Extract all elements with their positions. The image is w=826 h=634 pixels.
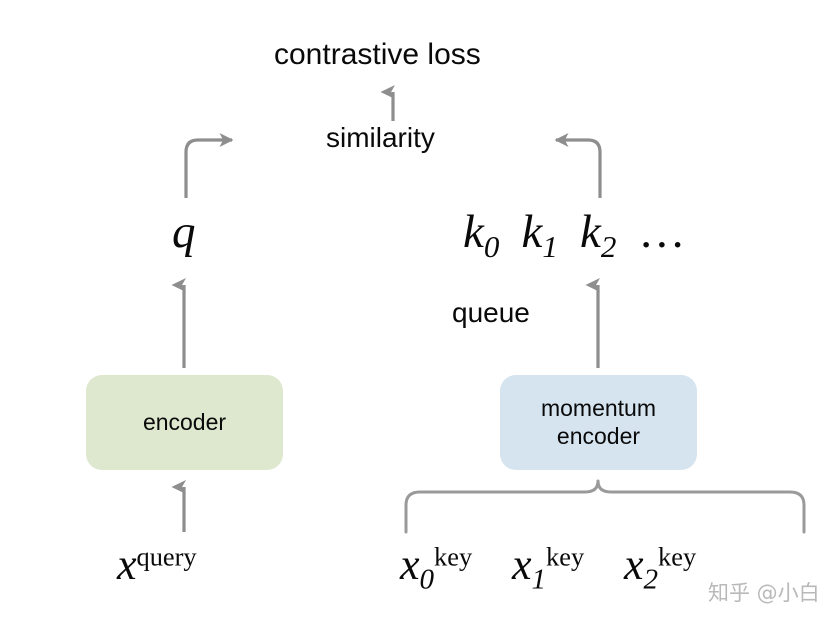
x-key-2-symbol: x2key — [624, 543, 696, 594]
x-query-superscript: query — [137, 541, 197, 571]
k2-subscript: 2 — [601, 229, 617, 264]
k2-base: k — [580, 206, 601, 258]
x-key-2-base: x — [624, 540, 644, 589]
x-key-0-superscript: key — [434, 541, 472, 571]
k1-base: k — [521, 206, 542, 258]
x-key-1-subscript: 1 — [532, 563, 547, 595]
x-key-2-superscript: key — [658, 541, 696, 571]
x-query-symbol: xquery — [117, 543, 197, 587]
x-key-0-subscript: 0 — [420, 563, 435, 595]
k-ellipsis: … — [638, 206, 688, 258]
k1-symbol: k1 — [521, 206, 557, 258]
arrow-k-to-similarity — [556, 140, 600, 198]
encoder-box-label: encoder — [143, 409, 226, 436]
x-key-0-base: x — [400, 540, 420, 589]
x-query-base: x — [117, 540, 137, 589]
momentum-encoder-box-label: momentum encoder — [541, 395, 656, 449]
arrow-q-to-similarity — [186, 140, 232, 198]
momentum-encoder-line1: momentum — [541, 395, 656, 421]
momentum-encoder-line2: encoder — [557, 423, 640, 449]
x-key-0-symbol: x0key — [400, 543, 472, 594]
k1-subscript: 1 — [542, 229, 558, 264]
q-base: q — [172, 206, 196, 258]
x-key-1-superscript: key — [546, 541, 584, 571]
x-key-1-base: x — [512, 540, 532, 589]
encoder-box[interactable]: encoder — [86, 375, 283, 470]
k0-symbol: k0 — [463, 206, 499, 258]
brace-keys-to-momentum-encoder — [406, 481, 804, 532]
connectors-layer — [0, 0, 826, 634]
k2-symbol: k2 — [580, 206, 616, 258]
x-key-1-symbol: x1key — [512, 543, 584, 594]
contrastive-loss-label: contrastive loss — [274, 40, 481, 70]
queue-label: queue — [452, 299, 530, 327]
x-key-2-subscript: 2 — [644, 563, 659, 595]
k0-subscript: 0 — [484, 229, 500, 264]
q-symbol: q — [172, 209, 196, 256]
k0-base: k — [463, 206, 484, 258]
watermark: 知乎 @小白 — [708, 583, 820, 604]
moco-diagram: contrastive loss similarity queue q k0 k… — [0, 0, 826, 634]
key-symbols-row: k0 k1 k2 … — [463, 209, 688, 262]
momentum-encoder-box[interactable]: momentum encoder — [500, 375, 697, 470]
similarity-label: similarity — [326, 124, 435, 152]
